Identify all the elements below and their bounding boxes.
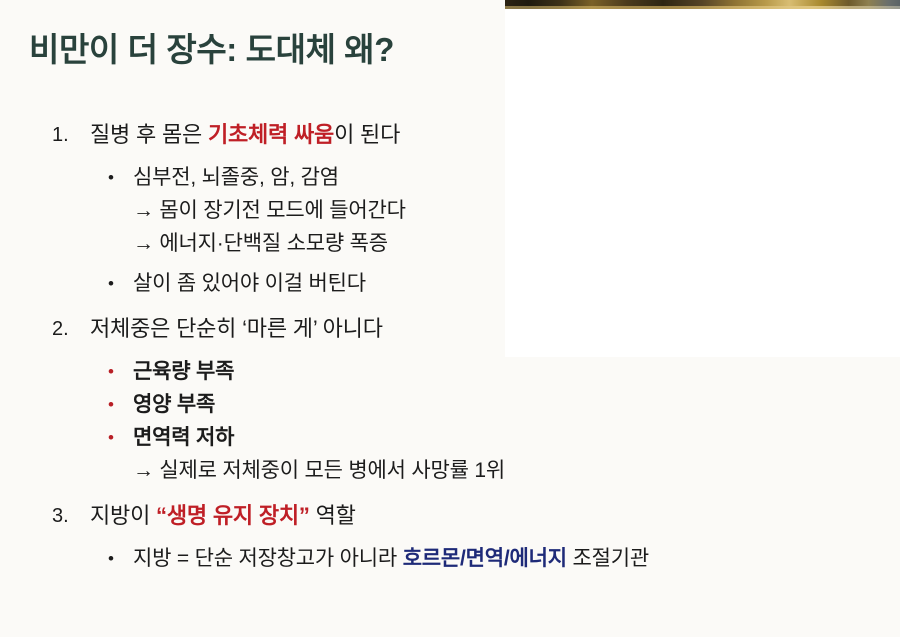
list-text-3-sub-1: 지방 = 단순 저장창고가 아니라 호르몬/면역/에너지 조절기관 bbox=[133, 542, 649, 575]
list-text-2-note: → 실제로 저체중이 모든 병에서 사망률 1위 bbox=[133, 454, 505, 487]
spacer bbox=[0, 154, 900, 161]
list-text-1: 질병 후 몸은 기초체력 싸움이 된다 bbox=[90, 118, 400, 152]
spacer bbox=[0, 348, 900, 355]
item3-sub-highlight: 호르몬/면역/에너지 bbox=[403, 547, 567, 570]
bullet-icon: • bbox=[108, 355, 133, 388]
list-text-1-sub-1: 심부전, 뇌졸중, 암, 감염 bbox=[133, 161, 339, 194]
item3-sub-text-before: 지방 = 단순 저장창고가 아니라 bbox=[133, 547, 403, 570]
bullet-icon: • bbox=[108, 542, 133, 575]
list-item-1-sub-1: • 심부전, 뇌졸중, 암, 감염 bbox=[0, 161, 900, 194]
list-text-2-sub-1: 근육량 부족 bbox=[133, 355, 234, 388]
bullet-icon: • bbox=[108, 421, 133, 454]
list-marker-2: 2. bbox=[52, 312, 90, 346]
spacer bbox=[0, 535, 900, 542]
page-title: 비만이 더 장수: 도대체 왜? bbox=[29, 29, 394, 70]
list-item-1-sub-3: → 에너지·단백질 소모량 폭증 bbox=[0, 227, 900, 260]
item1-highlight: 기초체력 싸움 bbox=[208, 122, 334, 147]
item3-sub-text-after: 조절기관 bbox=[567, 547, 649, 570]
item3-text-before: 지방이 bbox=[90, 503, 156, 528]
item1-text-before: 질병 후 몸은 bbox=[90, 122, 208, 147]
item1-text-after: 이 된다 bbox=[334, 122, 400, 147]
spacer bbox=[0, 260, 900, 267]
list-item-1-sub-4: • 살이 좀 있어야 이걸 버틴다 bbox=[0, 267, 900, 300]
list-text-3: 지방이 “생명 유지 장치” 역할 bbox=[90, 499, 356, 533]
photo-strip-image bbox=[505, 0, 900, 9]
list-item-1-sub-2: → 몸이 장기전 모드에 들어간다 bbox=[0, 194, 900, 227]
list-marker-3: 3. bbox=[52, 499, 90, 533]
list-item-1: 1. 질병 후 몸은 기초체력 싸움이 된다 bbox=[0, 118, 900, 152]
bullet-icon: • bbox=[108, 388, 133, 421]
list-item-2-note: → 실제로 저체중이 모든 병에서 사망률 1위 bbox=[0, 454, 900, 487]
item3-highlight: “생명 유지 장치” bbox=[156, 503, 310, 528]
item3-text-after: 역할 bbox=[310, 503, 356, 528]
slide-canvas: 비만이 더 장수: 도대체 왜? 1. 질병 후 몸은 기초체력 싸움이 된다 … bbox=[0, 0, 900, 637]
spacer bbox=[0, 487, 900, 499]
list-item-2: 2. 저체중은 단순히 ‘마른 게’ 아니다 bbox=[0, 312, 900, 346]
list-text-2: 저체중은 단순히 ‘마른 게’ 아니다 bbox=[90, 312, 383, 346]
list-marker-1: 1. bbox=[52, 118, 90, 152]
list-text-2-sub-2: 영양 부족 bbox=[133, 388, 215, 421]
list-item-2-sub-1: • 근육량 부족 bbox=[0, 355, 900, 388]
list-text-2-sub-3: 면역력 저하 bbox=[133, 421, 234, 454]
spacer bbox=[0, 300, 900, 312]
list-text-1-sub-4: 살이 좀 있어야 이걸 버틴다 bbox=[133, 267, 366, 300]
list-item-3-sub-1: • 지방 = 단순 저장창고가 아니라 호르몬/면역/에너지 조절기관 bbox=[0, 542, 900, 575]
list-item-2-sub-3: • 면역력 저하 bbox=[0, 421, 900, 454]
list-text-1-sub-3: → 에너지·단백질 소모량 폭증 bbox=[133, 227, 388, 260]
bullet-icon: • bbox=[108, 161, 133, 194]
bullet-icon: • bbox=[108, 267, 133, 300]
list-item-3: 3. 지방이 “생명 유지 장치” 역할 bbox=[0, 499, 900, 533]
list-text-1-sub-2: → 몸이 장기전 모드에 들어간다 bbox=[133, 194, 406, 227]
list-item-2-sub-2: • 영양 부족 bbox=[0, 388, 900, 421]
slide-body-list: 1. 질병 후 몸은 기초체력 싸움이 된다 • 심부전, 뇌졸중, 암, 감염… bbox=[0, 118, 900, 575]
